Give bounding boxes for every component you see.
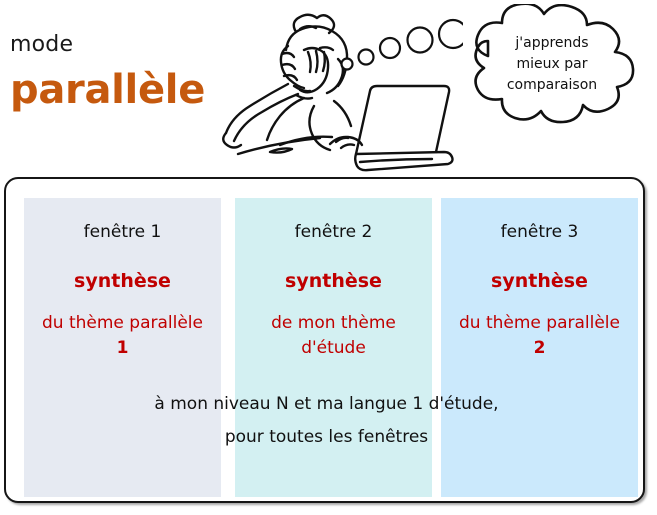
window-column-2: fenêtre 2 synthèse de mon thème d'étude (235, 198, 432, 497)
window-column-3: fenêtre 3 synthèse du thème parallèle 2 (441, 198, 638, 497)
column-description-line-2: d'étude (233, 336, 434, 361)
thought-bubble-line-2: mieux par (478, 54, 626, 75)
column-description-line-1: de mon thème (233, 311, 434, 336)
thought-bubble-line-1: j'apprends (478, 33, 626, 54)
page-title: parallèle (10, 67, 205, 113)
column-title: fenêtre 3 (441, 222, 638, 242)
column-heading: synthèse (24, 270, 221, 292)
thought-trail-dots-icon (338, 18, 463, 78)
column-description-line-1: du thème parallèle (22, 311, 223, 336)
thought-bubble-line-3: comparaison (478, 75, 626, 96)
column-title: fenêtre 2 (235, 222, 432, 242)
thought-bubble-text: j'apprends mieux par comparaison (478, 33, 626, 96)
column-description-line-1: du thème parallèle (439, 311, 640, 336)
column-description-line-2: 1 (22, 336, 223, 361)
column-description: du thème parallèle 1 (22, 311, 223, 361)
window-column-1: fenêtre 1 synthèse du thème parallèle 1 (24, 198, 221, 497)
column-description: de mon thème d'étude (233, 311, 434, 361)
column-heading: synthèse (235, 270, 432, 292)
column-description: du thème parallèle 2 (439, 311, 640, 361)
column-description-line-2: 2 (439, 336, 640, 361)
column-heading: synthèse (441, 270, 638, 292)
column-title: fenêtre 1 (24, 222, 221, 242)
mode-label: mode (10, 32, 73, 57)
diagram-box: fenêtre 1 synthèse du thème parallèle 1 … (4, 177, 645, 503)
